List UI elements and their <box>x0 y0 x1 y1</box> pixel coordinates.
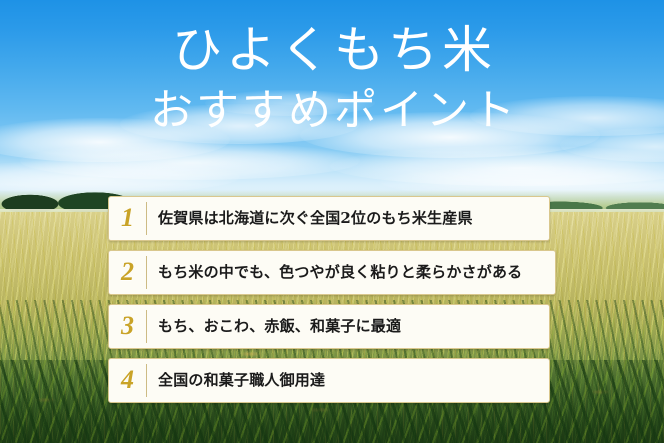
point-text: 佐賀県は北海道に次ぐ全国2位のもち米生産県 <box>147 210 549 227</box>
list-item: 3 もち、おこわ、赤飯、和菓子に最適 <box>108 304 550 349</box>
point-number: 3 <box>109 313 146 341</box>
point-number: 1 <box>109 205 146 233</box>
points-list: 1 佐賀県は北海道に次ぐ全国2位のもち米生産県 2 もち米の中でも、色つやが良く… <box>108 196 556 403</box>
list-item: 1 佐賀県は北海道に次ぐ全国2位のもち米生産県 <box>108 196 550 241</box>
promo-banner: ひよくもち米 おすすめポイント 1 佐賀県は北海道に次ぐ全国2位のもち米生産県 … <box>0 0 664 443</box>
point-number: 2 <box>109 259 146 287</box>
sky-background <box>0 0 664 206</box>
point-text: 全国の和菓子職人御用達 <box>147 372 549 389</box>
point-number: 4 <box>109 367 146 395</box>
list-item: 2 もち米の中でも、色つやが良く粘りと柔らかさがある <box>108 250 556 295</box>
point-text: もち米の中でも、色つやが良く粘りと柔らかさがある <box>147 264 555 281</box>
point-text: もち、おこわ、赤飯、和菓子に最適 <box>147 318 549 335</box>
list-item: 4 全国の和菓子職人御用達 <box>108 358 550 403</box>
